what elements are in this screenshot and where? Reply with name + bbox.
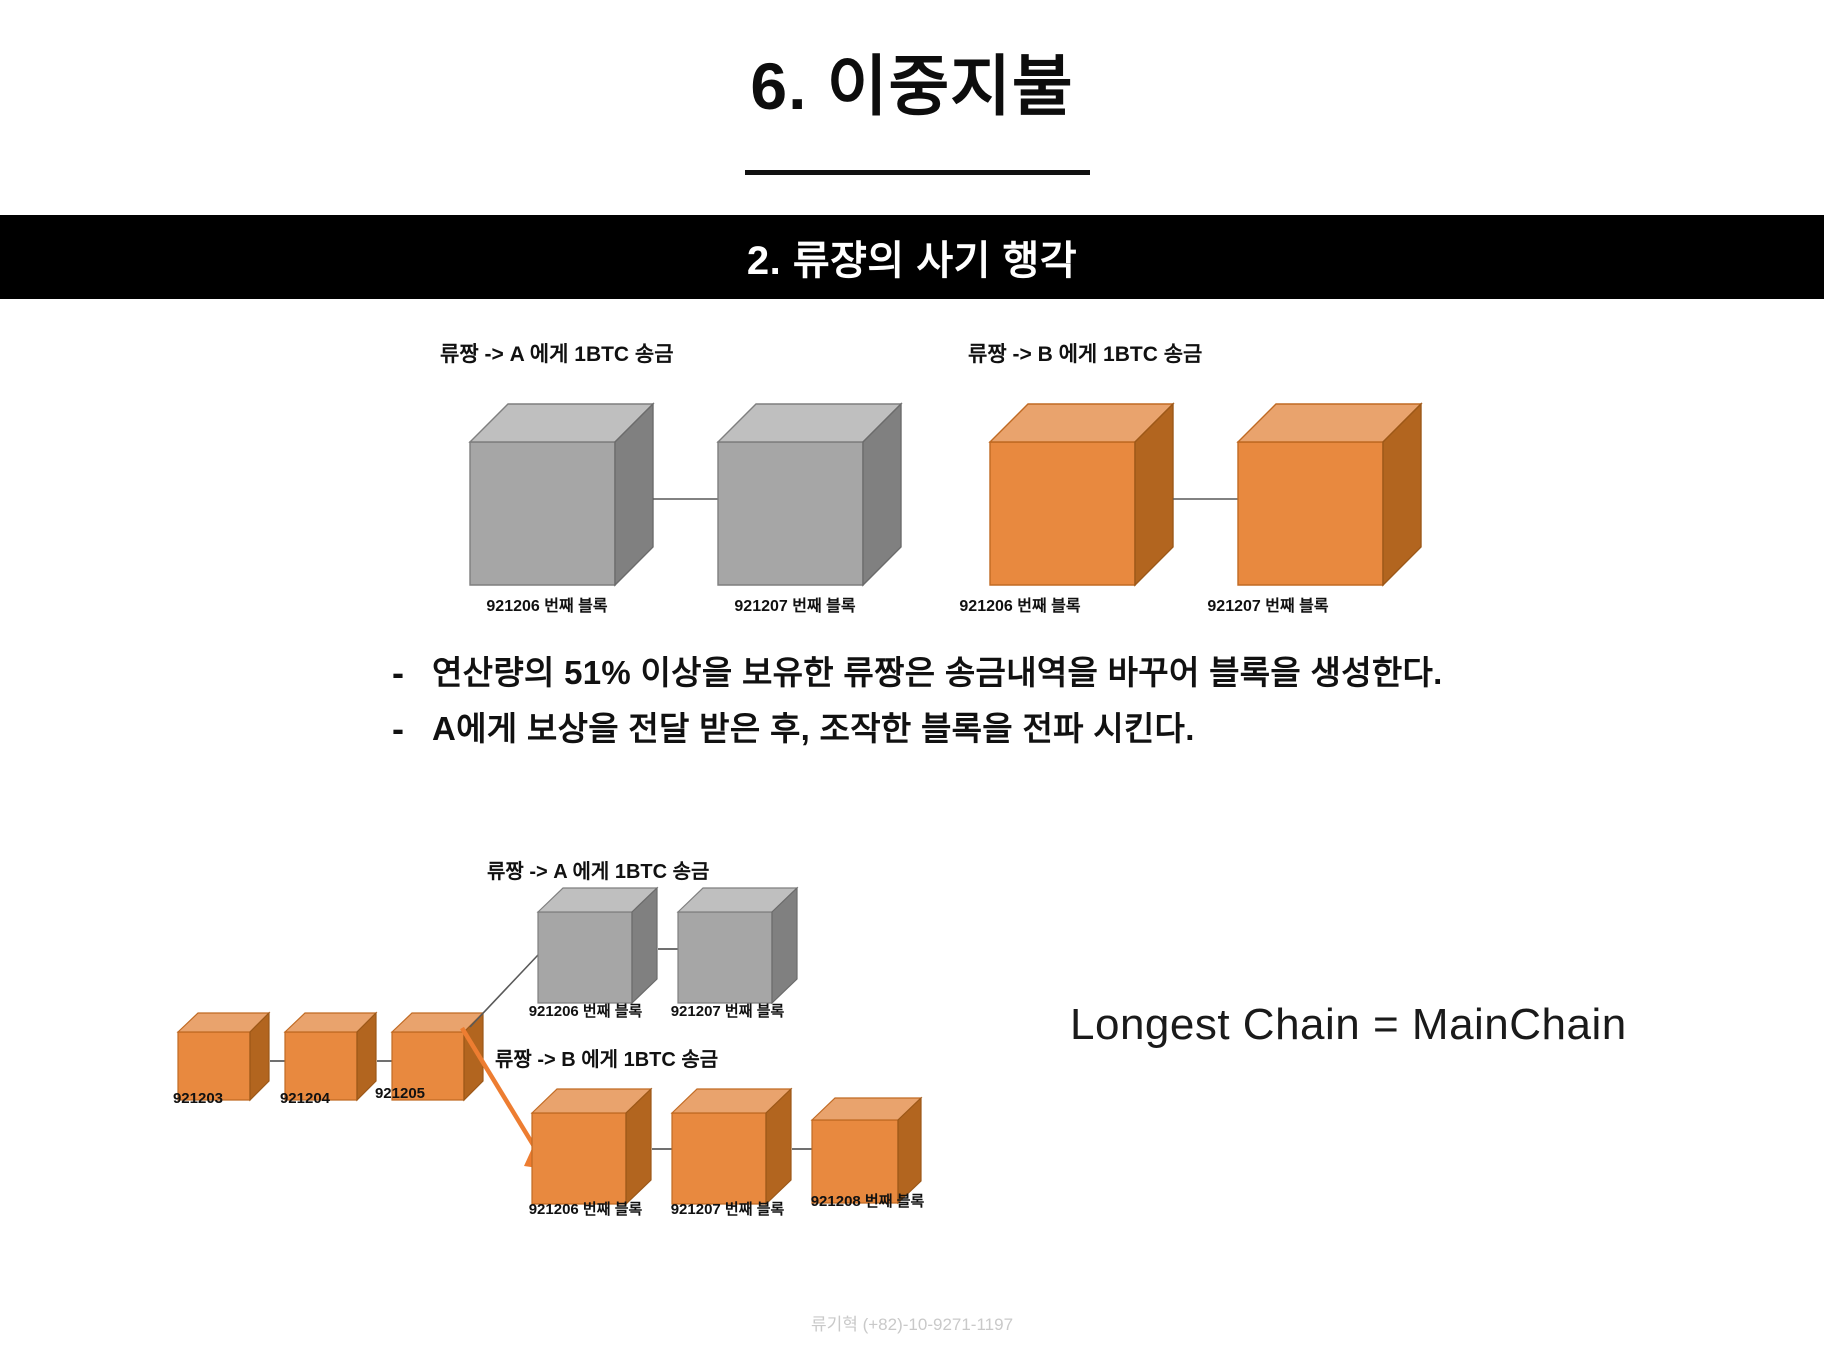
block-label: 921206 번째 블록 — [513, 1000, 658, 1021]
cube-orange-fork-921207 — [672, 1086, 792, 1206]
block-label: 921204 — [255, 1090, 355, 1107]
section-banner-label: 2. 류쟝의 사기 행각 — [747, 228, 1077, 286]
block-label: 921208 번째 블록 — [795, 1190, 940, 1211]
cube-orange-fork-921208 — [812, 1095, 922, 1205]
bullet-text: A에게 보상을 전달 받은 후, 조작한 블록을 전파 시킨다. — [432, 704, 1195, 754]
bullet-item: - 연산량의 51% 이상을 보유한 류짱은 송금내역을 바꾸어 블록을 생성한… — [392, 648, 1572, 698]
section-banner: 2. 류쟝의 사기 행각 — [0, 215, 1824, 299]
block-label: 921205 — [345, 1085, 455, 1102]
footer-credit: 류기혁 (+82)-10-9271-1197 — [0, 1310, 1824, 1335]
block-label: 921206 번째 블록 — [930, 592, 1110, 616]
block-label: 921207 번째 블록 — [1178, 592, 1358, 616]
fork-branch-b-caption: 류짱 -> B 에게 1BTC 송금 — [495, 1043, 718, 1072]
cube-orange-fork-921206 — [532, 1086, 652, 1206]
cube-orange-921207-top — [1238, 402, 1423, 587]
bullet-dash-icon: - — [392, 648, 432, 698]
cube-orange-921206-top — [990, 402, 1175, 587]
bullet-list: - 연산량의 51% 이상을 보유한 류짱은 송금내역을 바꾸어 블록을 생성한… — [392, 648, 1572, 760]
block-label: 921207 번째 블록 — [655, 1198, 800, 1219]
block-label: 921206 번째 블록 — [513, 1198, 658, 1219]
cube-gray-fork-921206 — [538, 885, 658, 1005]
cube-gray-921207-top — [718, 402, 903, 587]
bullet-item: - A에게 보상을 전달 받은 후, 조작한 블록을 전파 시킨다. — [392, 704, 1572, 754]
cube-gray-fork-921207 — [678, 885, 798, 1005]
top-chain-b-caption: 류짱 -> B 에게 1BTC 송금 — [968, 338, 1202, 368]
cube-gray-921206-top — [470, 402, 655, 587]
bullet-text: 연산량의 51% 이상을 보유한 류짱은 송금내역을 바꾸어 블록을 생성한다. — [432, 648, 1443, 698]
block-label: 921207 번째 블록 — [705, 592, 885, 616]
top-chain-a-caption: 류짱 -> A 에게 1BTC 송금 — [440, 338, 674, 368]
bullet-dash-icon: - — [392, 704, 432, 754]
longest-chain-note: Longest Chain = MainChain — [1070, 1000, 1627, 1050]
block-label: 921207 번째 블록 — [655, 1000, 800, 1021]
title-underline — [745, 170, 1090, 175]
page-title: 6. 이중지불 — [0, 52, 1824, 121]
fork-branch-a-caption: 류짱 -> A 에게 1BTC 송금 — [487, 855, 709, 884]
cube-orange-921203 — [178, 1010, 270, 1102]
block-label: 921206 번째 블록 — [457, 592, 637, 616]
block-label: 921203 — [148, 1090, 248, 1107]
